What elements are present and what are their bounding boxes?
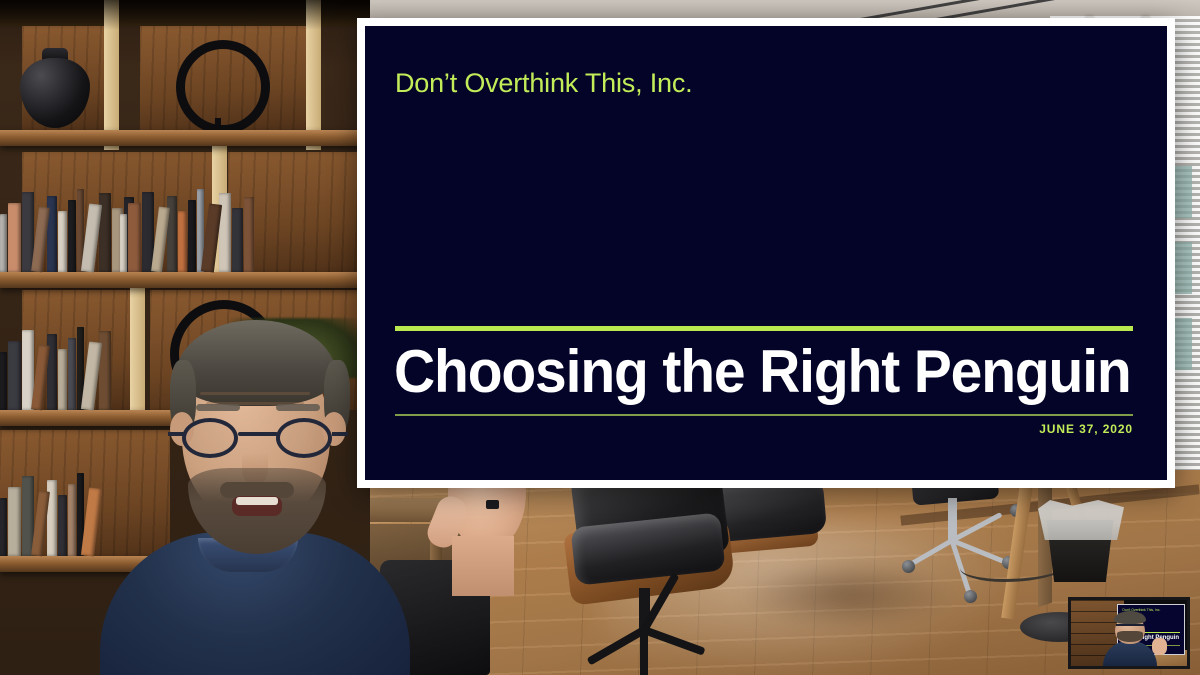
slide-company-name: Don’t Overthink This, Inc. <box>395 68 692 99</box>
book-spine <box>58 349 67 410</box>
book-spine <box>178 211 187 272</box>
book-spine <box>128 203 141 272</box>
lens-left <box>182 418 238 458</box>
book-spine <box>68 200 76 272</box>
book-spine <box>232 208 243 272</box>
forearm <box>452 536 514 596</box>
book-spine <box>68 484 76 556</box>
book-spine <box>0 214 7 272</box>
book-spine <box>8 203 21 272</box>
book-row <box>0 200 134 272</box>
mouth <box>232 496 282 516</box>
slide-accent-rule-bottom <box>395 414 1133 416</box>
shelf-shadow <box>0 0 370 30</box>
slide-date: JUNE 37, 2020 <box>1039 422 1133 436</box>
finger-ring-band <box>486 500 499 509</box>
pip-video-feed: Don’t Overthink This, Inc. g the Right P… <box>1071 600 1187 666</box>
forehead-crease <box>200 392 310 395</box>
book-spine <box>68 338 76 410</box>
book-spine <box>58 495 67 556</box>
pip-raised-hand <box>1152 638 1167 655</box>
book-spine <box>58 211 67 272</box>
video-call-screen: Don’t Overthink This, Inc. Choosing the … <box>0 0 1200 675</box>
book-spine <box>0 498 7 556</box>
teeth <box>236 497 278 505</box>
eyebrow-right <box>276 404 320 411</box>
glasses-temple-right <box>332 432 348 436</box>
book-spine <box>244 197 254 272</box>
ring-sculpture <box>176 40 270 134</box>
book-spine <box>0 352 7 410</box>
caster-wheel <box>902 560 915 573</box>
shelf-board <box>0 130 370 146</box>
chair-star-base <box>585 622 715 656</box>
book-spine <box>120 214 127 272</box>
book-spine <box>8 341 21 410</box>
glasses-temple-left <box>168 432 184 436</box>
pip-glasses-icon <box>1116 624 1144 630</box>
eyebrow-left <box>196 404 240 411</box>
shelf-board <box>0 272 370 288</box>
pip-presenter-hair <box>1114 611 1146 624</box>
glasses-bridge <box>238 432 278 436</box>
book-spine <box>188 200 196 272</box>
book-row <box>0 478 98 556</box>
book-spine <box>8 487 21 556</box>
slide-accent-rule-top <box>395 326 1133 331</box>
waste-bin-liner <box>1038 500 1124 540</box>
presentation-slide[interactable]: Don’t Overthink This, Inc. Choosing the … <box>365 26 1167 480</box>
slide-headline: Choosing the Right Penguin <box>394 342 1131 402</box>
shared-slide-frame[interactable]: Don’t Overthink This, Inc. Choosing the … <box>357 18 1175 488</box>
eames-lounge-chair <box>555 470 825 660</box>
self-view-pip[interactable]: Don’t Overthink This, Inc. g the Right P… <box>1068 597 1190 669</box>
book-row <box>120 196 254 272</box>
caster-wheel <box>964 590 977 603</box>
pip-presenter-beard <box>1117 631 1143 642</box>
lens-right <box>276 418 332 458</box>
